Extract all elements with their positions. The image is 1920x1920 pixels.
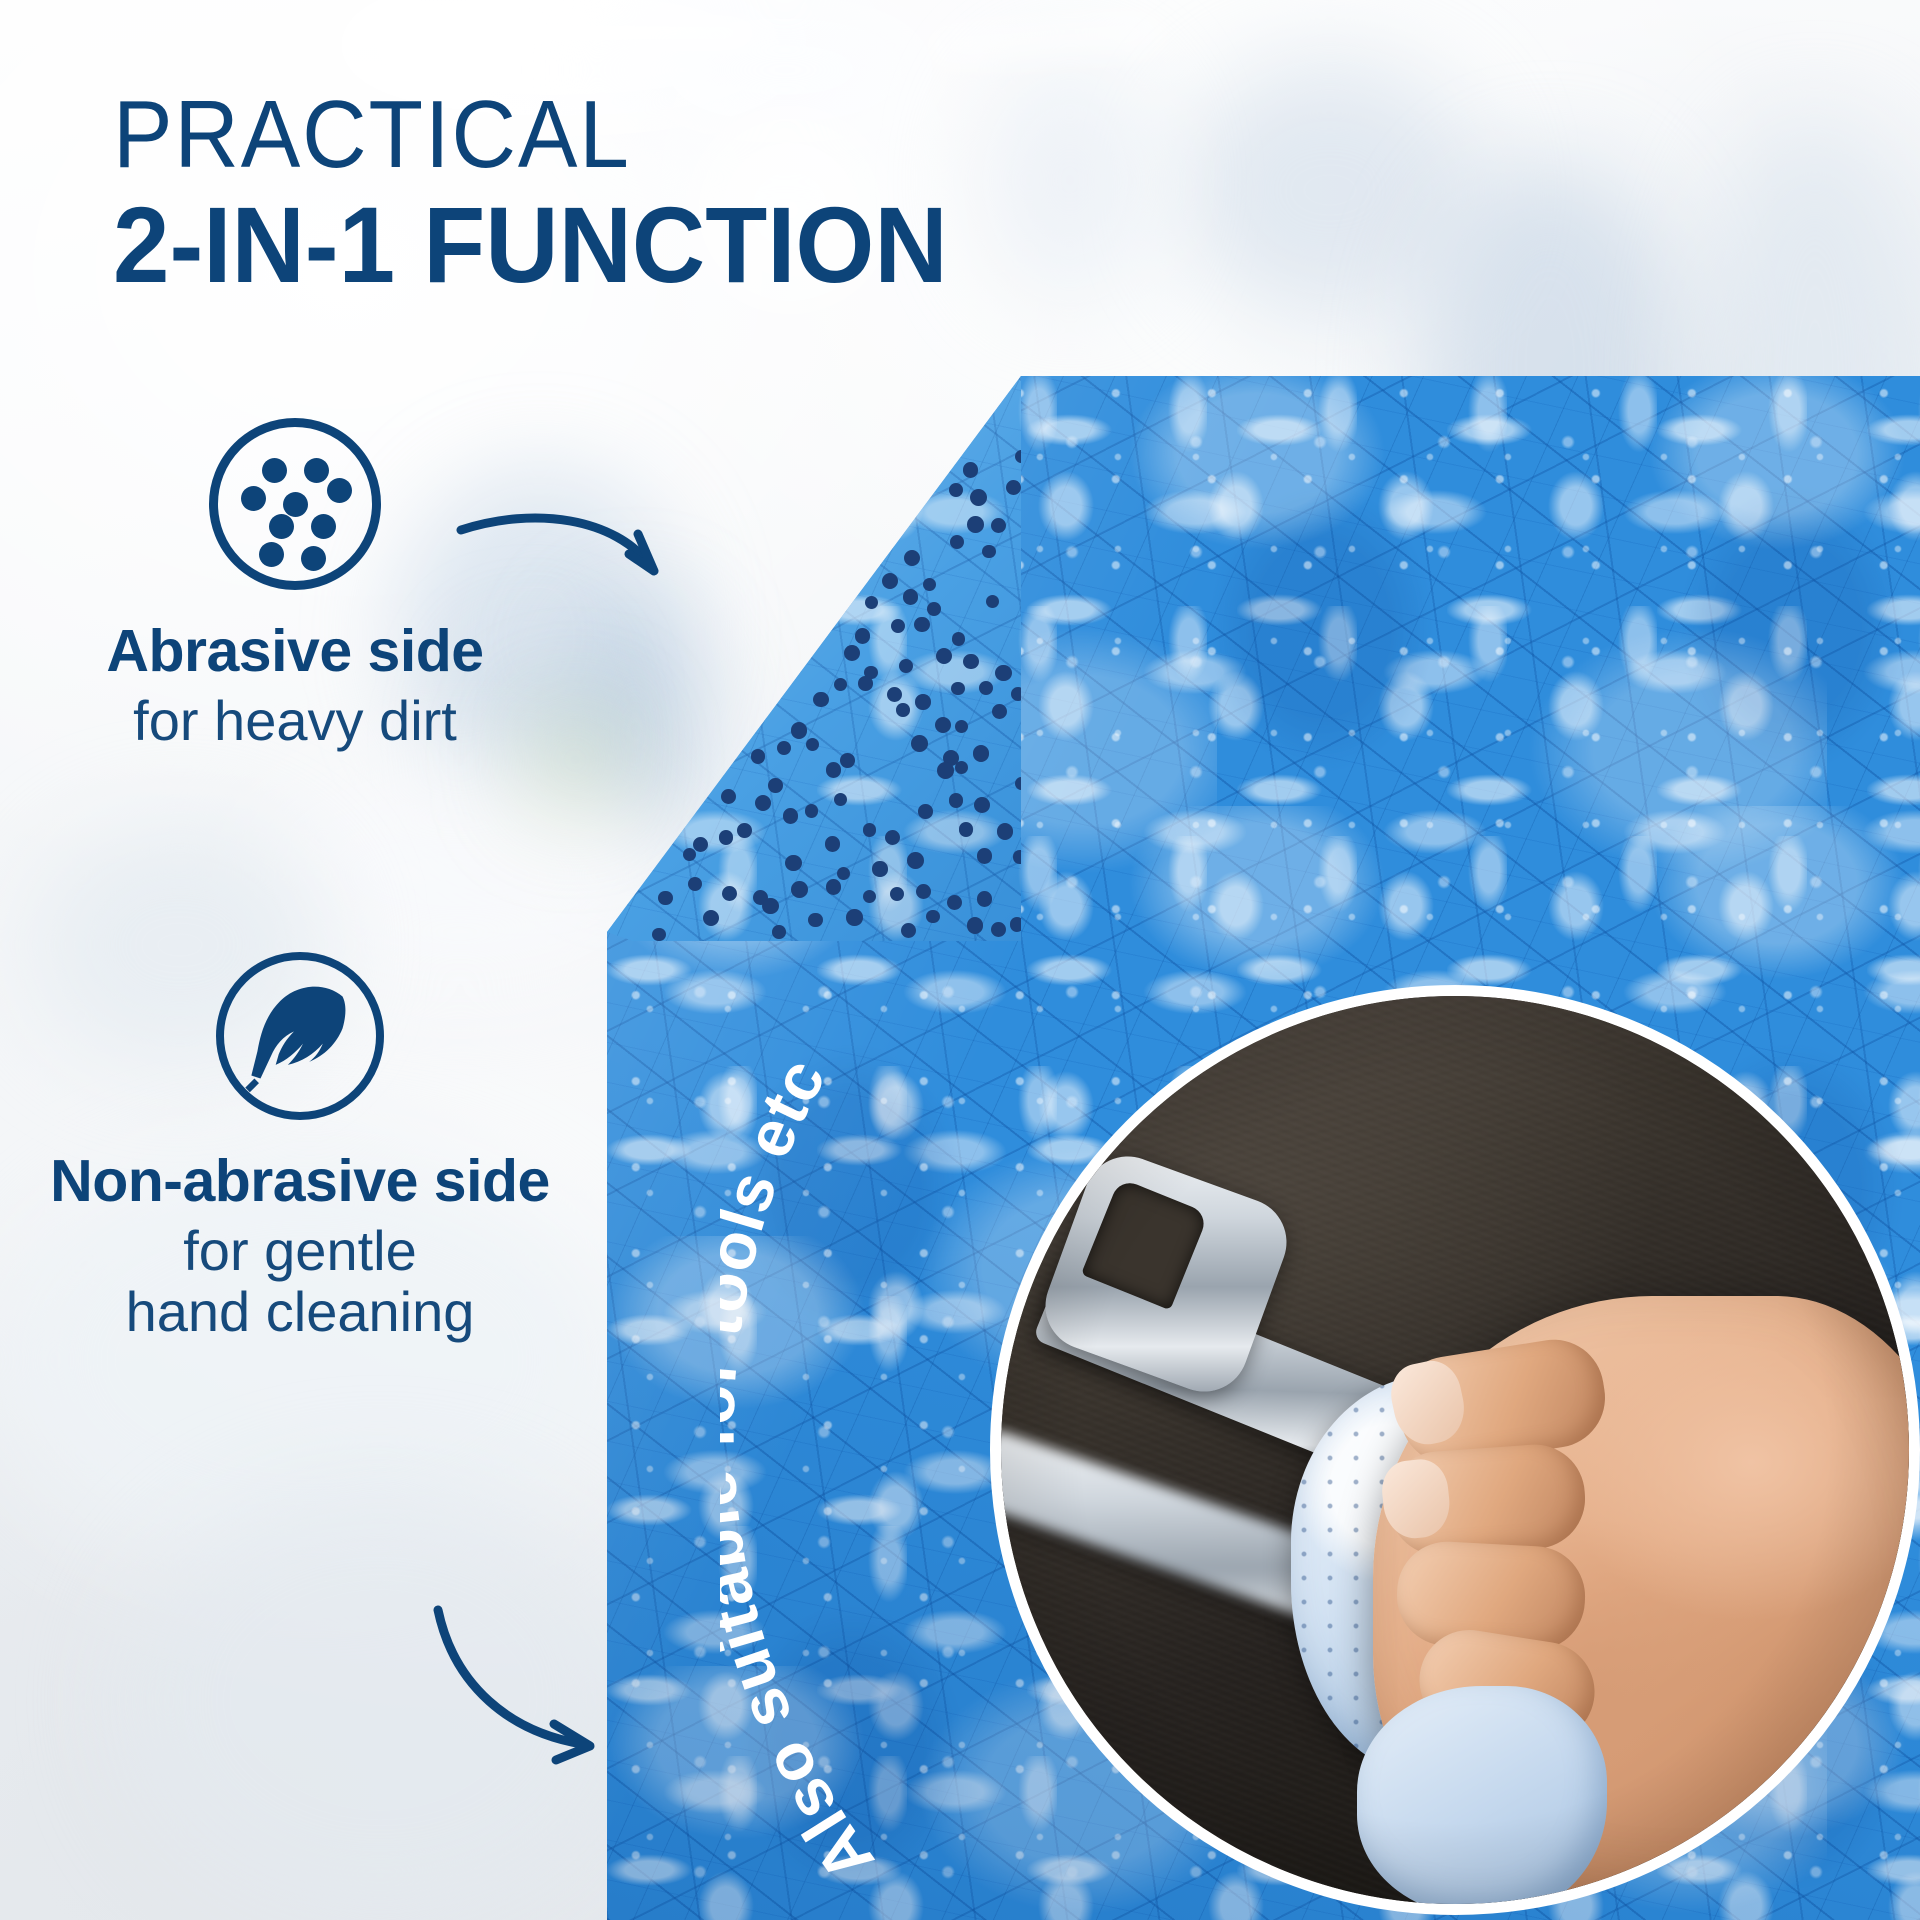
perforation-dot [652, 928, 666, 941]
feather-icon [216, 952, 384, 1120]
perforation-dot [896, 703, 910, 717]
perforation-dot [916, 884, 931, 899]
perforation-dot [901, 923, 916, 938]
feather-glyph [224, 960, 376, 1112]
perforation-dot [927, 602, 941, 616]
feature-subtitle-line-1: for gentle [0, 1220, 600, 1282]
feature-title: Non-abrasive side [0, 1150, 600, 1214]
tool-cleaning-photo [990, 985, 1920, 1915]
feature-abrasive-side: Abrasive side for heavy dirt [0, 418, 590, 751]
perforation-dot [915, 694, 931, 710]
perforation-dot [863, 823, 876, 836]
perforation-dot [777, 741, 791, 755]
perforation-dot [986, 595, 999, 608]
perforation-dot [785, 855, 801, 871]
perforation-dot [950, 535, 964, 549]
perforation-dot [783, 808, 798, 823]
perforation-dot [721, 789, 736, 804]
perforation-dot [768, 778, 783, 793]
abrasive-dot [301, 546, 326, 571]
perforation-dot [858, 676, 873, 691]
perforation-dot [825, 836, 841, 852]
perforation-dot [806, 738, 819, 751]
photo-vignette [1001, 996, 1909, 1904]
perforation-dot [963, 462, 979, 478]
perforation-dot [865, 596, 878, 609]
perforation-dot [937, 762, 954, 779]
perforation-dot [951, 682, 965, 696]
perforation-dot [959, 822, 973, 836]
background-bokeh [120, 1480, 640, 1920]
perforation-dot [826, 762, 841, 777]
perforation-dot [967, 516, 984, 533]
perforation-dot [918, 804, 933, 819]
perforation-dot [688, 877, 702, 891]
feature-title: Abrasive side [0, 620, 590, 684]
perforation-dot [977, 848, 992, 863]
perforation-dot [840, 753, 855, 768]
perforation-dot [982, 545, 995, 558]
infographic-canvas: Also suitable for tools etc PRACTICAL 2-… [0, 0, 1920, 1920]
abrasive-dot [241, 486, 266, 511]
perforation-dot [967, 917, 984, 934]
perforation-dot [914, 617, 930, 633]
perforation-dot [936, 648, 952, 664]
perforation-dot [791, 881, 808, 898]
perforation-dot [991, 518, 1006, 533]
perforation-dot [885, 830, 901, 846]
perforation-dot [923, 578, 936, 591]
perforation-dot [911, 735, 928, 752]
perforation-dot [991, 922, 1006, 937]
perforation-dot [737, 823, 752, 838]
perforation-dot [844, 645, 860, 661]
abrasive-dot [283, 492, 308, 517]
headline-line-2: 2-IN-1 FUNCTION [113, 190, 948, 300]
perforation-dot [963, 654, 979, 670]
background-ceiling-light [330, 20, 760, 46]
perforation-dot [772, 925, 786, 939]
perforation-dot [955, 720, 968, 733]
abrasive-dot [304, 458, 329, 483]
perforation-dot [826, 879, 841, 894]
headline-line-1: PRACTICAL [113, 86, 939, 184]
abrasive-dot [327, 478, 352, 503]
perforation-dot [872, 861, 887, 876]
abrasive-dot [311, 514, 336, 539]
perforation-dot [834, 678, 847, 691]
abrasive-dot [262, 458, 287, 483]
perforation-dot [762, 898, 778, 914]
perforation-dot [947, 895, 962, 910]
perforation-dot [882, 573, 898, 589]
perforation-dot [887, 687, 902, 702]
perforation-dot [997, 823, 1014, 840]
perforation-dot [955, 761, 968, 774]
perforation-dot [974, 797, 990, 813]
background-bokeh [980, 60, 1160, 300]
perforation-dot [977, 891, 992, 906]
perforation-dot [970, 489, 987, 506]
perforation-dot [926, 910, 940, 924]
perforation-dot [808, 913, 822, 927]
perforation-dot [683, 848, 696, 861]
perforation-dot [903, 589, 918, 604]
perforation-dot [949, 483, 963, 497]
perforation-dot [949, 793, 963, 807]
feature-subtitle-line-2: hand cleaning [0, 1281, 600, 1343]
perforation-dot [907, 852, 924, 869]
perforation-dot [755, 795, 771, 811]
perforation-dot [805, 804, 818, 817]
perforation-dot [834, 793, 847, 806]
perforation-dot [791, 722, 808, 739]
perforation-dot [1006, 480, 1021, 495]
perforation-dot [846, 909, 862, 925]
abrasive-dots-icon [209, 418, 381, 590]
perforation-dot [863, 890, 876, 903]
perforation-dot [890, 887, 904, 901]
perforation-dot [952, 632, 966, 646]
abrasive-dot [269, 514, 294, 539]
perforation-dot [719, 830, 733, 844]
perforation-dot [855, 628, 871, 644]
page-title: PRACTICAL 2-IN-1 FUNCTION [113, 86, 1001, 300]
perforation-dot [751, 749, 766, 764]
perforation-dot [992, 704, 1007, 719]
perforation-dot [979, 681, 994, 696]
perforation-dot [703, 910, 719, 926]
perforation-dot [995, 665, 1011, 681]
perforation-dot [722, 886, 737, 901]
perforation-dot [658, 891, 672, 905]
perforation-dot [935, 717, 951, 733]
feature-subtitle: for heavy dirt [0, 690, 590, 752]
perforation-dot [899, 659, 913, 673]
perforation-dot [813, 692, 829, 708]
perforation-dot [891, 619, 905, 633]
perforation-dot [973, 745, 989, 761]
feature-non-abrasive-side: Non-abrasive side for gentle hand cleani… [0, 952, 600, 1343]
perforation-dot [904, 550, 920, 566]
perforation-dot [837, 867, 851, 881]
abrasive-dot [259, 542, 284, 567]
